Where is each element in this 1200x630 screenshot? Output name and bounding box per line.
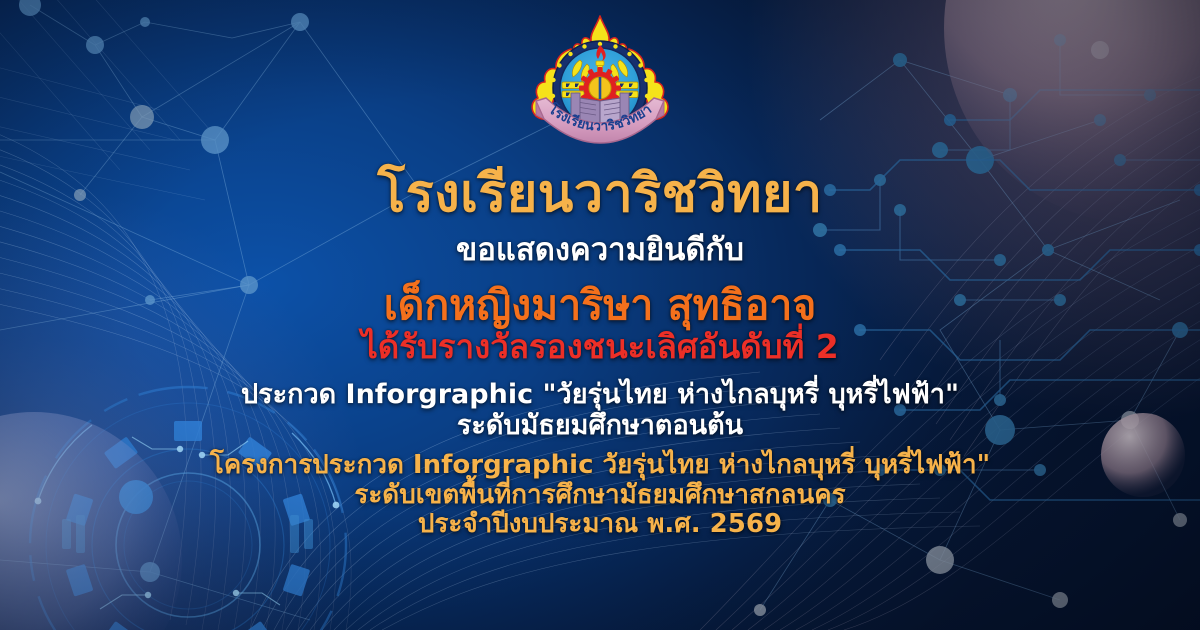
- project-name: โครงการประกวด Inforgraphic วัยรุ่นไทย ห่…: [0, 452, 1200, 479]
- competition-level: ระดับมัธยมศึกษาตอนต้น: [0, 412, 1200, 440]
- student-name: เด็กหญิงมาริษา สุทธิอาจ: [0, 285, 1200, 327]
- crest-svg: โรงเรียนวาริชวิทยา: [525, 12, 675, 162]
- school-crest-logo: โรงเรียนวาริชวิทยา: [525, 12, 675, 162]
- school-name-heading: โรงเรียนวาริชวิทยา: [0, 168, 1200, 221]
- congratulation-poster: โรงเรียนวาริชวิทยา โรงเรียนวาริชวิทยา ขอ…: [0, 0, 1200, 630]
- fiscal-year: ประจำปีงบประมาณ พ.ศ. 2569: [0, 511, 1200, 538]
- project-area-level: ระดับเขตพื้นที่การศึกษามัธยมศึกษาสกลนคร: [0, 482, 1200, 509]
- poster-content: โรงเรียนวาริชวิทยา โรงเรียนวาริชวิทยา ขอ…: [0, 0, 1200, 538]
- competition-name: ประกวด Inforgraphic "วัยรุ่นไทย ห่างไกลบ…: [0, 381, 1200, 409]
- award-title: ได้รับรางวัลรองชนะเลิศอันดับที่ 2: [0, 330, 1200, 364]
- congratulations-label: ขอแสดงความยินดีกับ: [0, 235, 1200, 267]
